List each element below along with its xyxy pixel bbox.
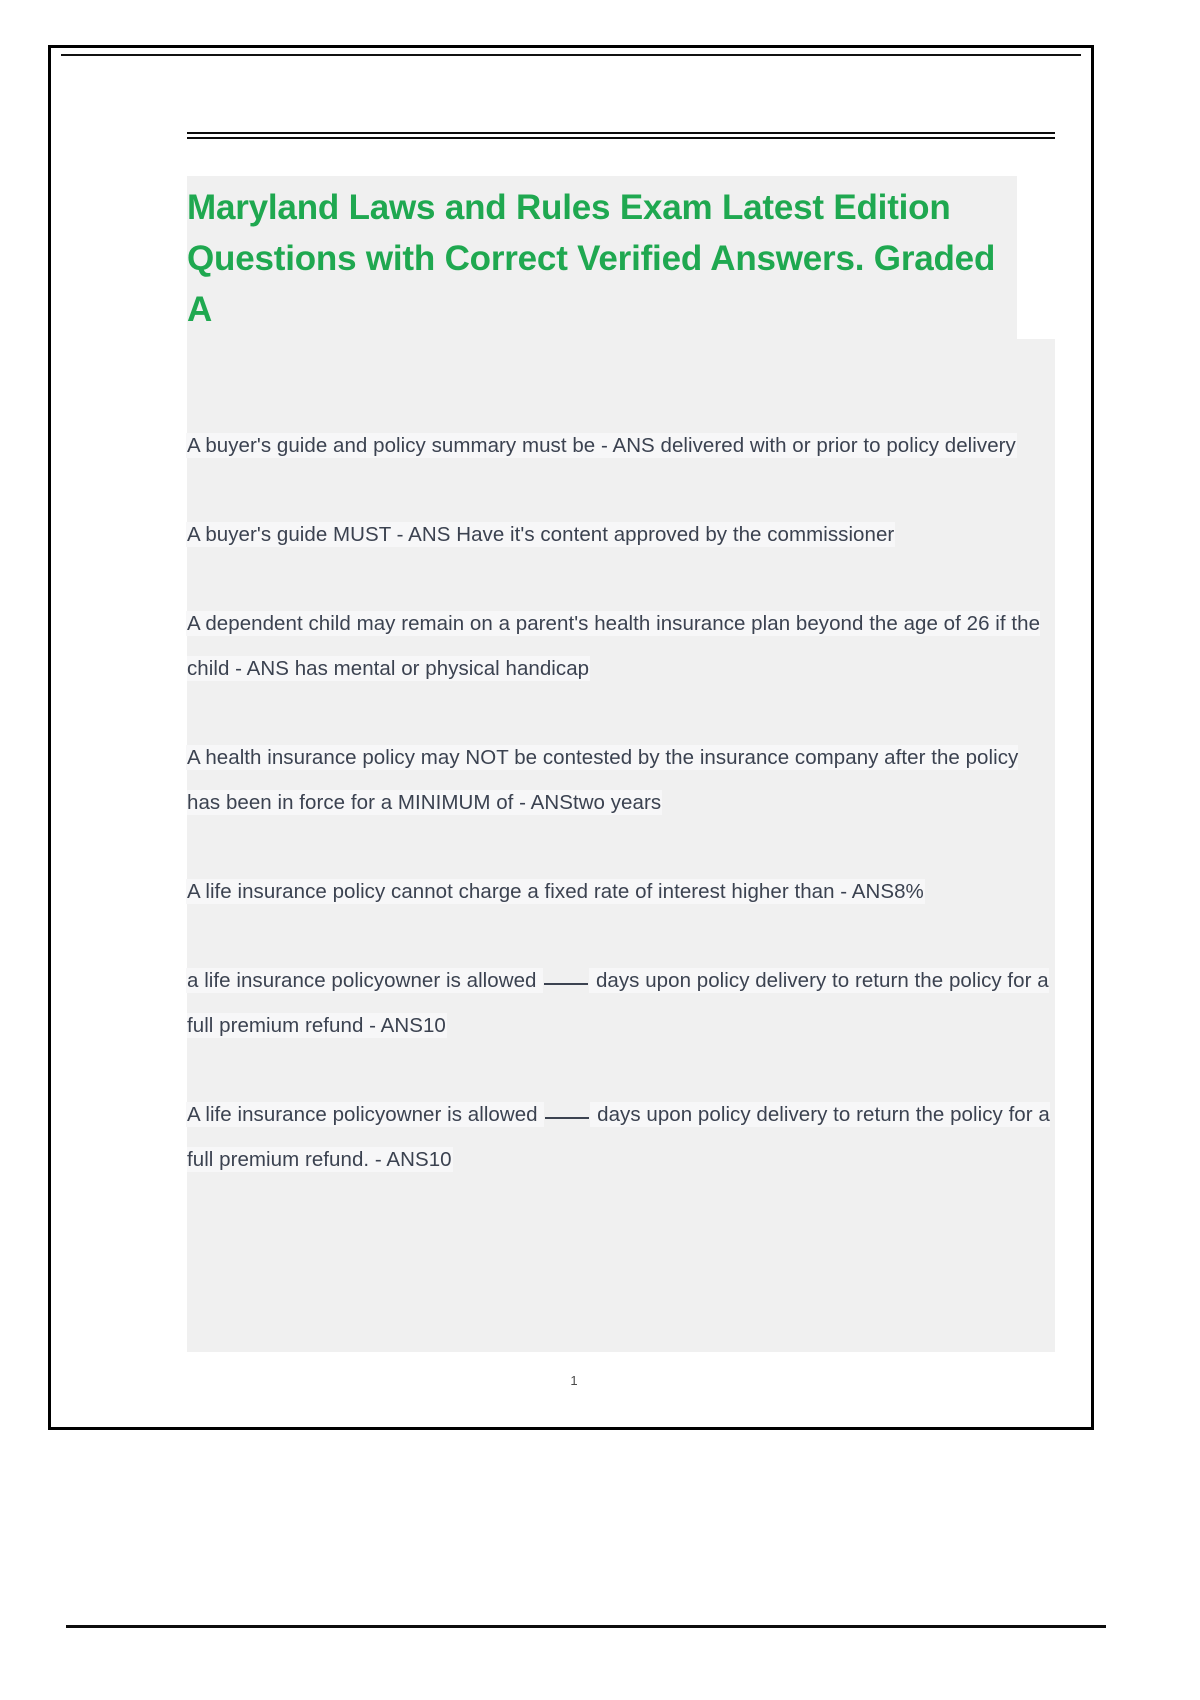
qa-item-6-prefix: a life insurance policyowner is allowed [187,969,542,992]
qa-item-1: A buyer's guide and policy summary must … [187,423,1055,468]
document-page: Maryland Laws and Rules Exam Latest Edit… [48,45,1094,1430]
qa-item-5-text: A life insurance policy cannot charge a … [187,880,924,903]
qa-item-4-text: A health insurance policy may NOT be con… [187,746,1018,814]
qa-list: A buyer's guide and policy summary must … [187,423,1055,1182]
qa-item-2-text: A buyer's guide MUST - ANS Have it's con… [187,523,894,546]
sheet-bottom-rule [66,1625,1106,1628]
page-number: 1 [51,1373,1097,1388]
header-double-rule [187,132,1055,138]
qa-item-6: a life insurance policyowner is allowed … [187,958,1055,1048]
qa-item-2: A buyer's guide MUST - ANS Have it's con… [187,512,1055,557]
qa-item-7-prefix: A life insurance policyowner is allowed [187,1103,543,1126]
qa-item-5: A life insurance policy cannot charge a … [187,869,1055,914]
fill-in-blank-rule [545,1117,589,1119]
page-title: Maryland Laws and Rules Exam Latest Edit… [187,182,1027,335]
qa-item-1-text: A buyer's guide and policy summary must … [187,434,1016,457]
qa-item-7: A life insurance policyowner is allowed … [187,1092,1055,1182]
frame-inner-rule [61,54,1081,56]
qa-item-3-text: A dependent child may remain on a parent… [187,612,1040,680]
qa-item-4: A health insurance policy may NOT be con… [187,735,1055,825]
fill-in-blank-rule [544,983,588,985]
qa-item-3: A dependent child may remain on a parent… [187,601,1055,691]
